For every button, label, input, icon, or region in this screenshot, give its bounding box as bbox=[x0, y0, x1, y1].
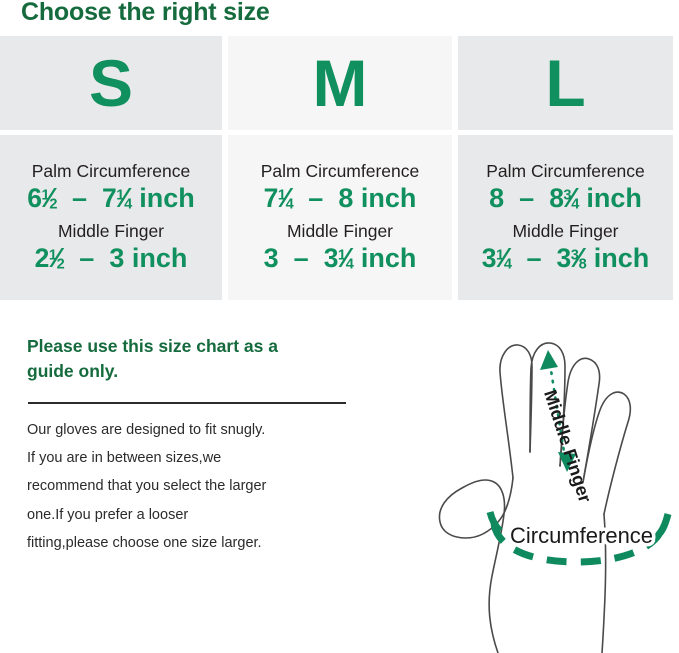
page-title: Choose the right size bbox=[21, 0, 270, 27]
note-heading-line-2: guide only. bbox=[27, 359, 357, 384]
size-letter-cell-m: M bbox=[228, 36, 452, 130]
palm-thumb-outline bbox=[439, 478, 513, 653]
finger-from-l: 31⁄4 bbox=[482, 242, 512, 274]
finger-from-m: 3 bbox=[264, 243, 279, 273]
range-dash: – bbox=[64, 183, 94, 213]
finger-to-m: 31⁄4 bbox=[324, 242, 354, 274]
palm-label-s: Palm Circumference bbox=[32, 161, 191, 181]
size-letter-cell-s: S bbox=[0, 36, 222, 130]
size-measurement-row: Palm Circumference 61⁄2 – 71⁄4 inch Midd… bbox=[0, 135, 679, 300]
range-dash: – bbox=[72, 243, 102, 273]
finger-label-l: Middle Finger bbox=[512, 221, 618, 241]
palm-from-m: 71⁄4 bbox=[264, 182, 294, 214]
measurements-column-m: Palm Circumference 71⁄4 – 8 inch Middle … bbox=[228, 135, 452, 300]
size-column-s: S bbox=[0, 36, 222, 130]
size-letter-row: S M L bbox=[0, 36, 679, 130]
note-body-line-4: one.If you prefer a looser bbox=[27, 501, 357, 529]
finger-label-m: Middle Finger bbox=[287, 221, 393, 241]
finger-value-m: 3 – 31⁄4 inch bbox=[264, 242, 417, 274]
middle-finger-label: Middle Finger bbox=[540, 387, 595, 504]
palm-unit-m: inch bbox=[361, 183, 417, 213]
circumference-label: Circumference bbox=[510, 523, 653, 548]
finger-value-s: 21⁄2 – 3 inch bbox=[35, 242, 188, 274]
size-letter-l: L bbox=[545, 50, 585, 116]
finger-unit-s: inch bbox=[132, 243, 188, 273]
finger-to-s: 3 bbox=[109, 243, 124, 273]
finger-from-s: 21⁄2 bbox=[35, 242, 65, 274]
palm-from-s: 61⁄2 bbox=[27, 182, 57, 214]
palm-value-s: 61⁄2 – 71⁄4 inch bbox=[27, 182, 194, 214]
size-column-m: M bbox=[228, 36, 452, 130]
size-chart-table: S M L Palm Circumference 61⁄2 – 71⁄4 inc… bbox=[0, 36, 679, 300]
palm-from-l: 8 bbox=[489, 183, 504, 213]
measurements-column-l: Palm Circumference 8 – 83⁄4 inch Middle … bbox=[458, 135, 673, 300]
size-column-l: L bbox=[458, 36, 673, 130]
palm-unit-s: inch bbox=[139, 183, 195, 213]
guidance-note: Please use this size chart as a guide on… bbox=[27, 334, 357, 557]
size-letter-cell-l: L bbox=[458, 36, 673, 130]
index-finger-outline bbox=[500, 345, 532, 478]
note-divider bbox=[28, 402, 346, 404]
circumference-band-right-tick bbox=[660, 514, 668, 533]
range-dash: – bbox=[512, 183, 542, 213]
size-letter-m: M bbox=[313, 50, 368, 116]
note-heading-line-1: Please use this size chart as a bbox=[27, 334, 357, 359]
palm-value-m: 71⁄4 – 8 inch bbox=[264, 182, 417, 214]
finger-unit-m: inch bbox=[361, 243, 417, 273]
range-dash: – bbox=[286, 243, 316, 273]
measurements-column-s: Palm Circumference 61⁄2 – 71⁄4 inch Midd… bbox=[0, 135, 222, 300]
finger-unit-l: inch bbox=[594, 243, 650, 273]
palm-to-m: 8 bbox=[338, 183, 353, 213]
palm-unit-l: inch bbox=[586, 183, 642, 213]
palm-to-s: 71⁄4 bbox=[102, 182, 132, 214]
palm-to-l: 83⁄4 bbox=[549, 182, 579, 214]
note-body-line-3: recommend that you select the larger bbox=[27, 472, 357, 500]
note-body-line-5: fitting,please choose one size larger. bbox=[27, 529, 357, 557]
note-body-line-1: Our gloves are designed to fit snugly. bbox=[27, 416, 357, 444]
hand-measurement-diagram: Middle Finger Circumference Circumferenc… bbox=[390, 300, 679, 653]
measurement-cell-m: Palm Circumference 71⁄4 – 8 inch Middle … bbox=[228, 135, 452, 300]
palm-label-m: Palm Circumference bbox=[261, 161, 420, 181]
range-dash: – bbox=[301, 183, 331, 213]
note-body: Our gloves are designed to fit snugly. I… bbox=[27, 416, 357, 557]
measurement-cell-s: Palm Circumference 61⁄2 – 71⁄4 inch Midd… bbox=[0, 135, 222, 300]
middle-finger-arrow-up bbox=[540, 350, 558, 370]
finger-value-l: 31⁄4 – 33⁄8 inch bbox=[482, 242, 649, 274]
palm-value-l: 8 – 83⁄4 inch bbox=[489, 182, 642, 214]
finger-label-s: Middle Finger bbox=[58, 221, 164, 241]
finger-to-l: 33⁄8 bbox=[557, 242, 587, 274]
note-heading: Please use this size chart as a guide on… bbox=[27, 334, 357, 385]
measurement-cell-l: Palm Circumference 8 – 83⁄4 inch Middle … bbox=[458, 135, 673, 300]
size-letter-s: S bbox=[89, 50, 133, 116]
note-body-line-2: If you are in between sizes,we bbox=[27, 444, 357, 472]
palm-label-l: Palm Circumference bbox=[486, 161, 645, 181]
range-dash: – bbox=[519, 243, 549, 273]
